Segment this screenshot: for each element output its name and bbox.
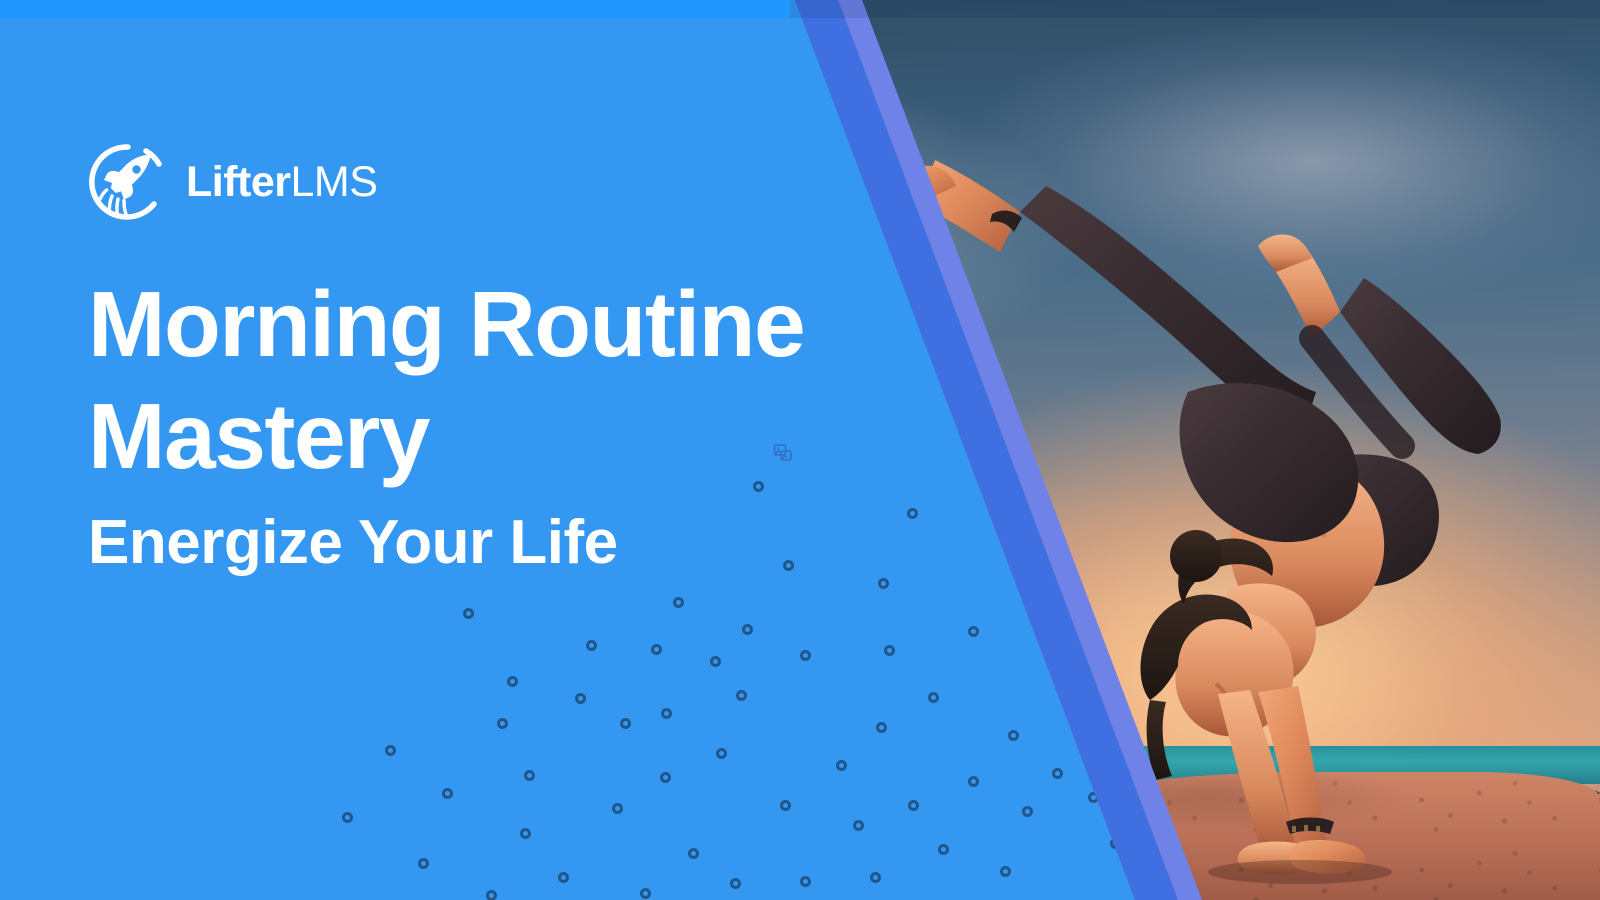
hero-title: Morning RoutineMastery (88, 268, 948, 492)
top-accent-strip (0, 0, 790, 18)
lifterlms-logo[interactable]: LifterLMS (88, 142, 377, 222)
rocket-in-circle-icon (88, 142, 168, 222)
logo-wordmark-bold: Lifter (186, 158, 291, 206)
course-hero-banner: LifterLMS Morning RoutineMastery Energiz… (0, 0, 1600, 900)
hero-title-line-1: Morning Routine (88, 272, 804, 376)
hero-title-line-2: Mastery (88, 384, 429, 488)
hero-subtitle: Energize Your Life (88, 505, 948, 581)
logo-wordmark-light: LMS (291, 158, 378, 206)
logo-wordmark: LifterLMS (186, 161, 377, 204)
